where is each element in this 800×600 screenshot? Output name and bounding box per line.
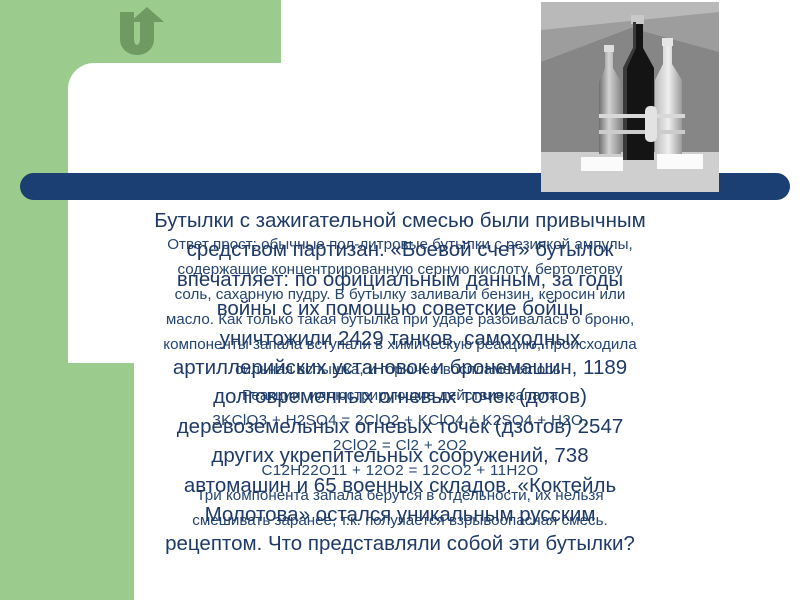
main-line: средством партизан. «Боевой счет» бутыло… — [46, 235, 754, 264]
main-text-block: Бутылки с зажигательной смесью были прив… — [0, 206, 800, 559]
main-line: Бутылки с зажигательной смесью были прив… — [46, 206, 754, 235]
main-line: войны с их помощью советские бойцы — [46, 294, 754, 323]
main-line: других укрепительных сооружений, 738 — [46, 441, 754, 470]
main-line: долговременных огневых точек (дотов) — [46, 382, 754, 411]
main-line: впечатляет: по официальным данным, за го… — [46, 265, 754, 294]
main-line: рецептом. Что представляли собой эти бут… — [46, 529, 754, 558]
main-line: уничтожили 2429 танков, самоходных — [46, 324, 754, 353]
main-line: деревоземельных огневых точек (дзотов) 2… — [46, 412, 754, 441]
u-turn-arrow-icon[interactable] — [112, 6, 172, 60]
main-line: автомашин и 65 военных складов. «Коктейл… — [46, 471, 754, 500]
main-line: артиллерийских установок и бронемашин, 1… — [46, 353, 754, 382]
main-line: Молотова» остался уникальным русским — [46, 500, 754, 529]
slide-canvas: Ответ прост: обычные пол-литровые бутылк… — [0, 0, 800, 600]
bottles-photo — [541, 2, 719, 192]
